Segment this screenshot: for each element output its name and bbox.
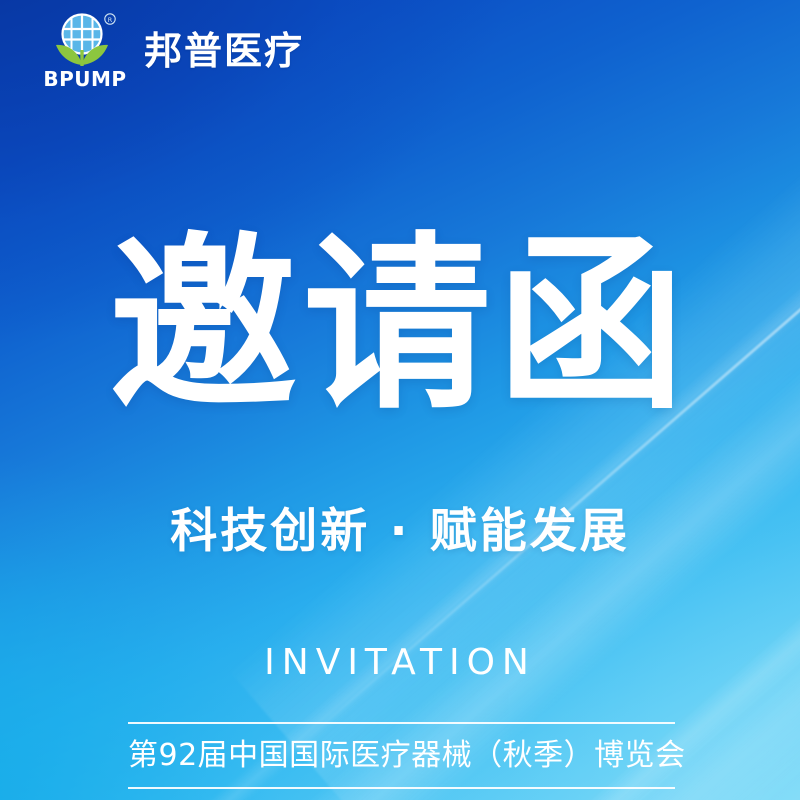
- event-footer: 第92届中国国际医疗器械（秋季）博览会: [128, 722, 675, 789]
- svg-text:R: R: [108, 16, 113, 24]
- invitation-english-label: INVITATION: [0, 645, 800, 681]
- company-name: 邦普医疗: [144, 32, 304, 70]
- logo-wordmark-text: BPUMP: [43, 67, 126, 90]
- invitation-poster: R BPUMP 邦普医疗 邀请函 科技创新 · 赋能发展 INVITATION …: [0, 0, 800, 800]
- event-name: 第92届中国国际医疗器械（秋季）博览会: [128, 724, 675, 787]
- bpump-flower-logo-icon: R BPUMP: [42, 10, 128, 90]
- page-title: 邀请函: [0, 232, 800, 420]
- brand-lockup: R BPUMP 邦普医疗: [42, 10, 304, 90]
- poster-subtitle: 科技创新 · 赋能发展: [0, 503, 800, 562]
- footer-rule-bottom: [128, 787, 675, 789]
